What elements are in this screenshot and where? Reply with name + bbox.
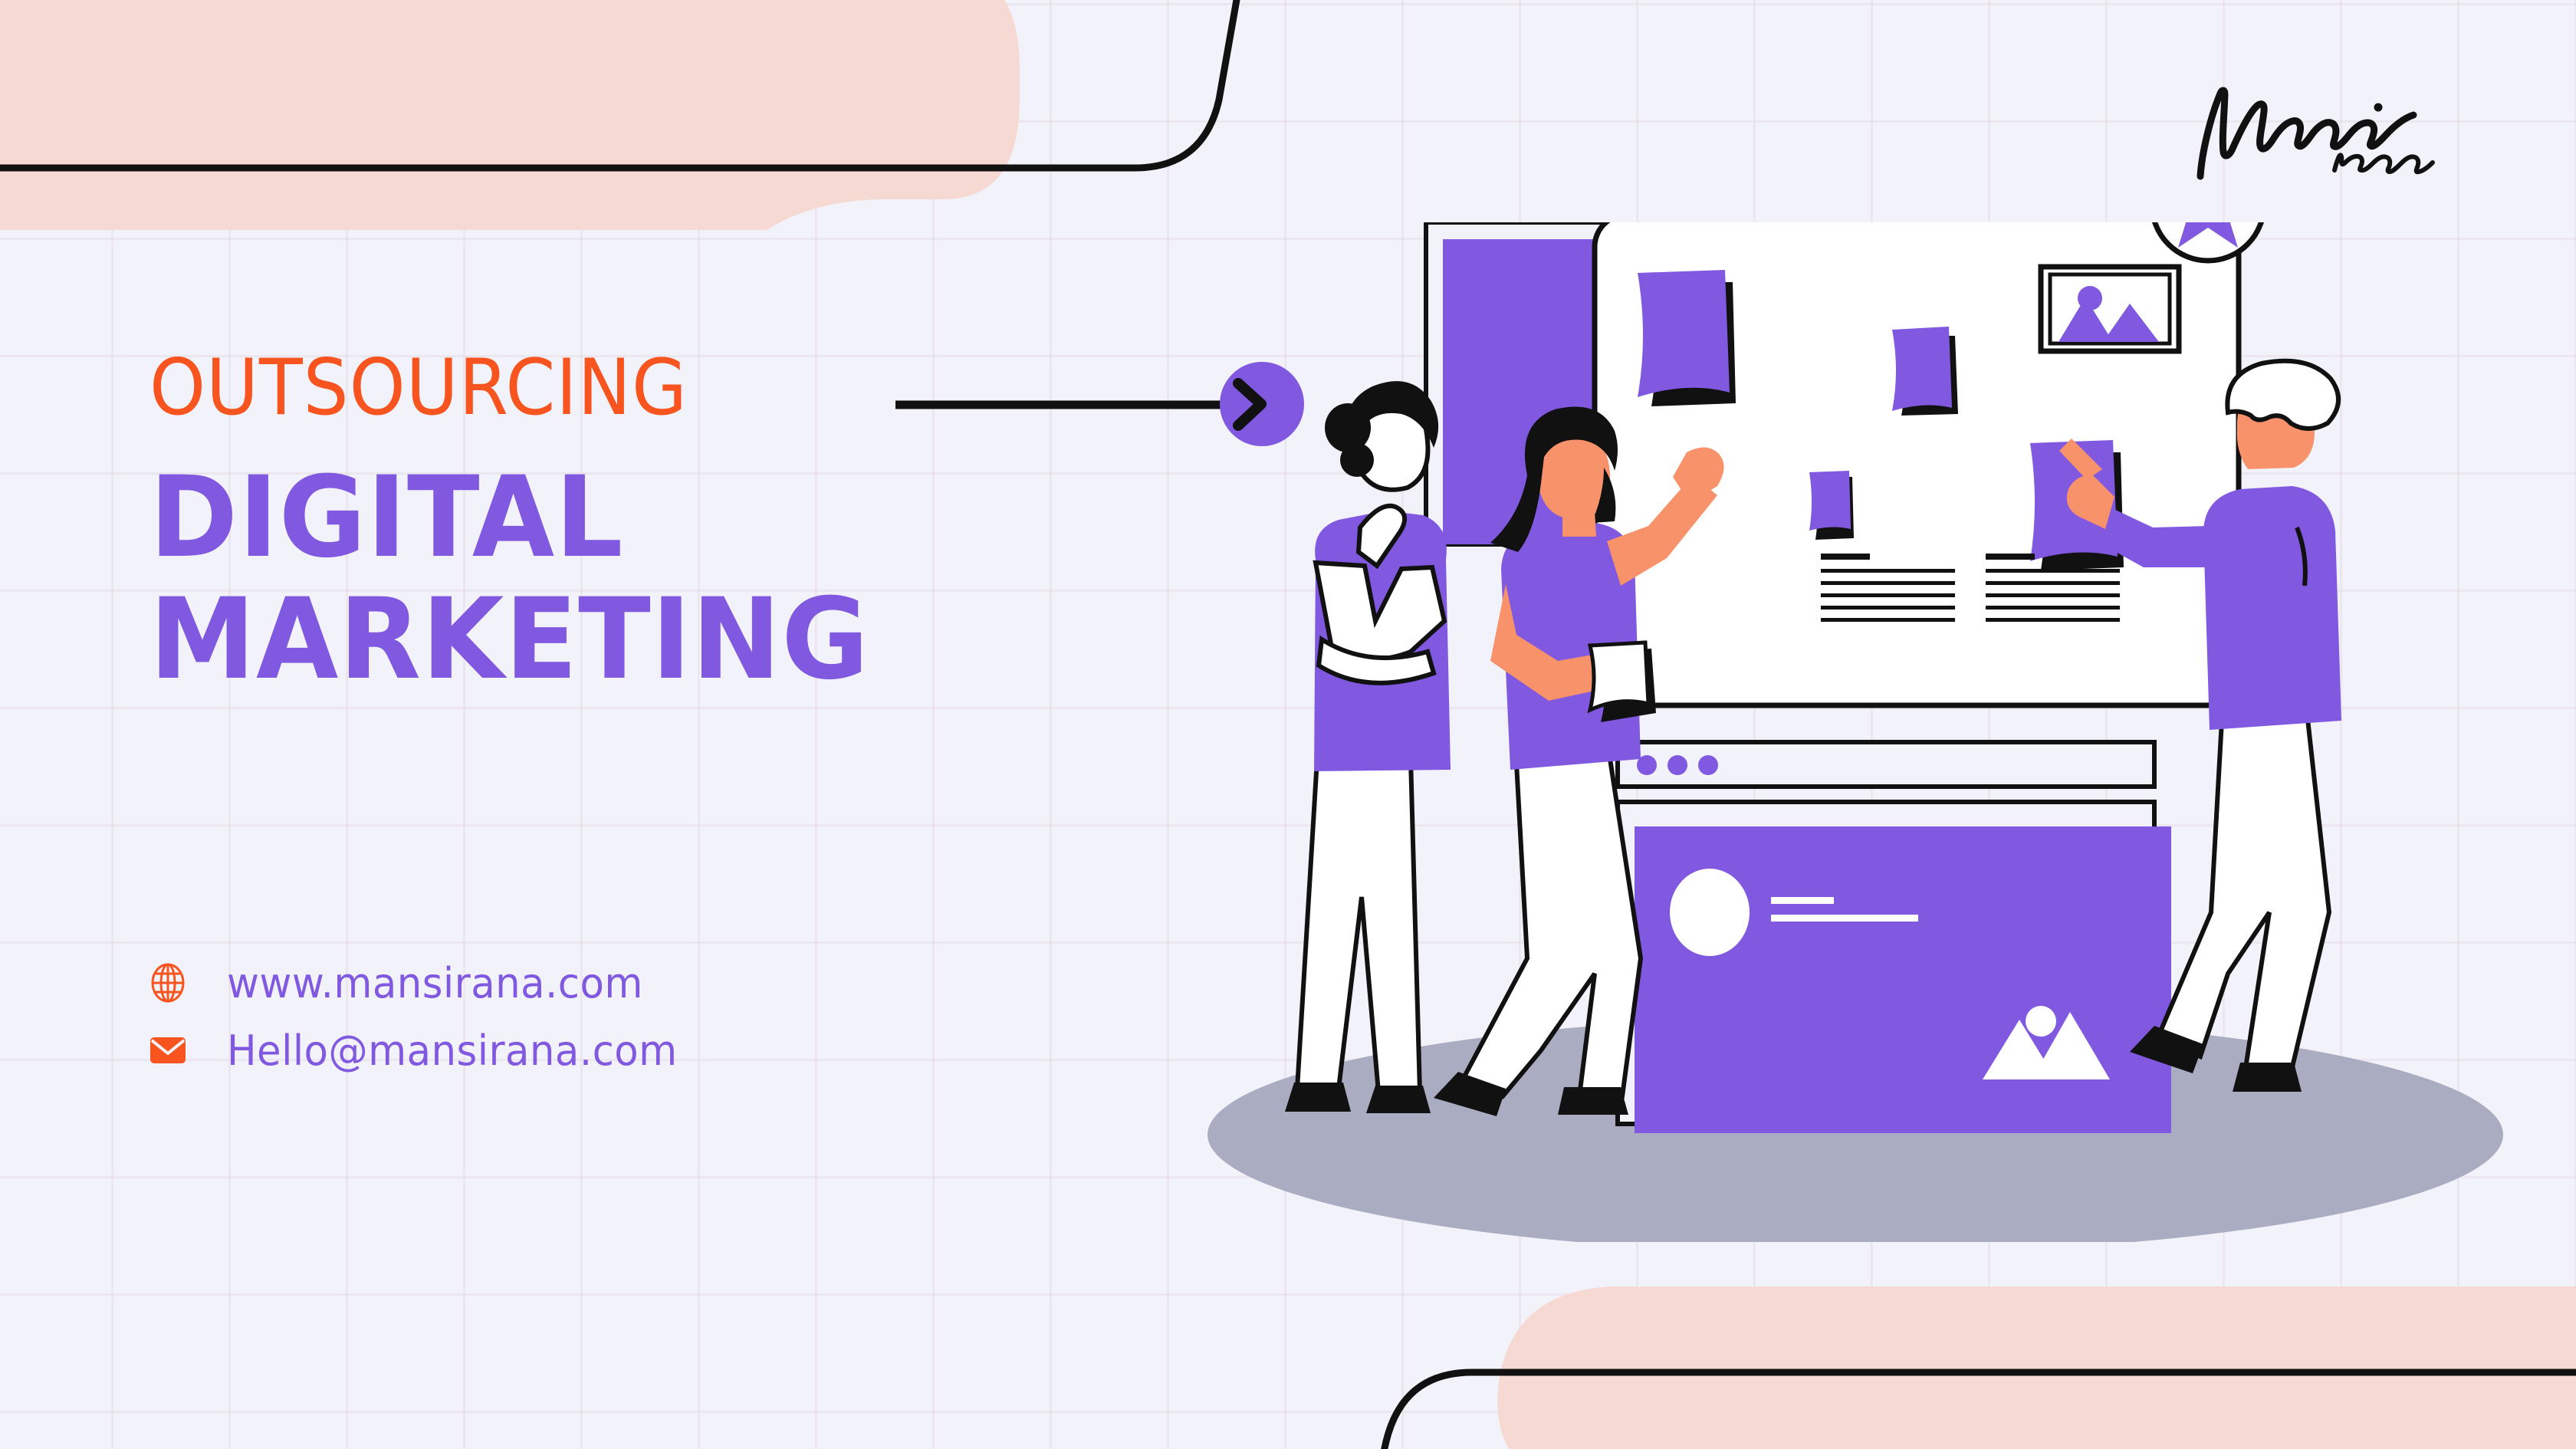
browser-dot <box>1667 755 1687 775</box>
sticky-note <box>1892 327 1958 416</box>
contact-row-website[interactable]: www.mansirana.com <box>146 949 701 1017</box>
envelope-icon <box>146 1036 190 1065</box>
logo-script-mansi <box>2200 90 2413 176</box>
hair-bun <box>1340 443 1374 477</box>
website-label: www.mansirana.com <box>227 959 643 1007</box>
contact-row-email[interactable]: Hello@mansirana.com <box>146 1017 701 1084</box>
avatar <box>1670 869 1750 956</box>
sticky-note <box>1638 270 1736 406</box>
banner-canvas: OUTSOURCING DIGITAL MARKETING www <box>0 0 2576 1449</box>
logo-script-rana <box>2334 155 2433 172</box>
contact-list: www.mansirana.com Hello@mansirana.com <box>146 949 701 1084</box>
browser-window-front <box>1618 742 2171 1133</box>
globe-icon <box>146 963 190 1003</box>
image-placeholder-frame <box>2041 267 2179 351</box>
logo-dot <box>2374 103 2383 112</box>
team-collaboration-illustration <box>1181 222 2530 1242</box>
paper <box>1590 642 1648 710</box>
brand-logo[interactable] <box>2177 69 2484 199</box>
email-label: Hello@mansirana.com <box>227 1027 678 1075</box>
mountain-sun-icon <box>2026 1006 2056 1037</box>
browser-dot <box>1698 755 1718 775</box>
